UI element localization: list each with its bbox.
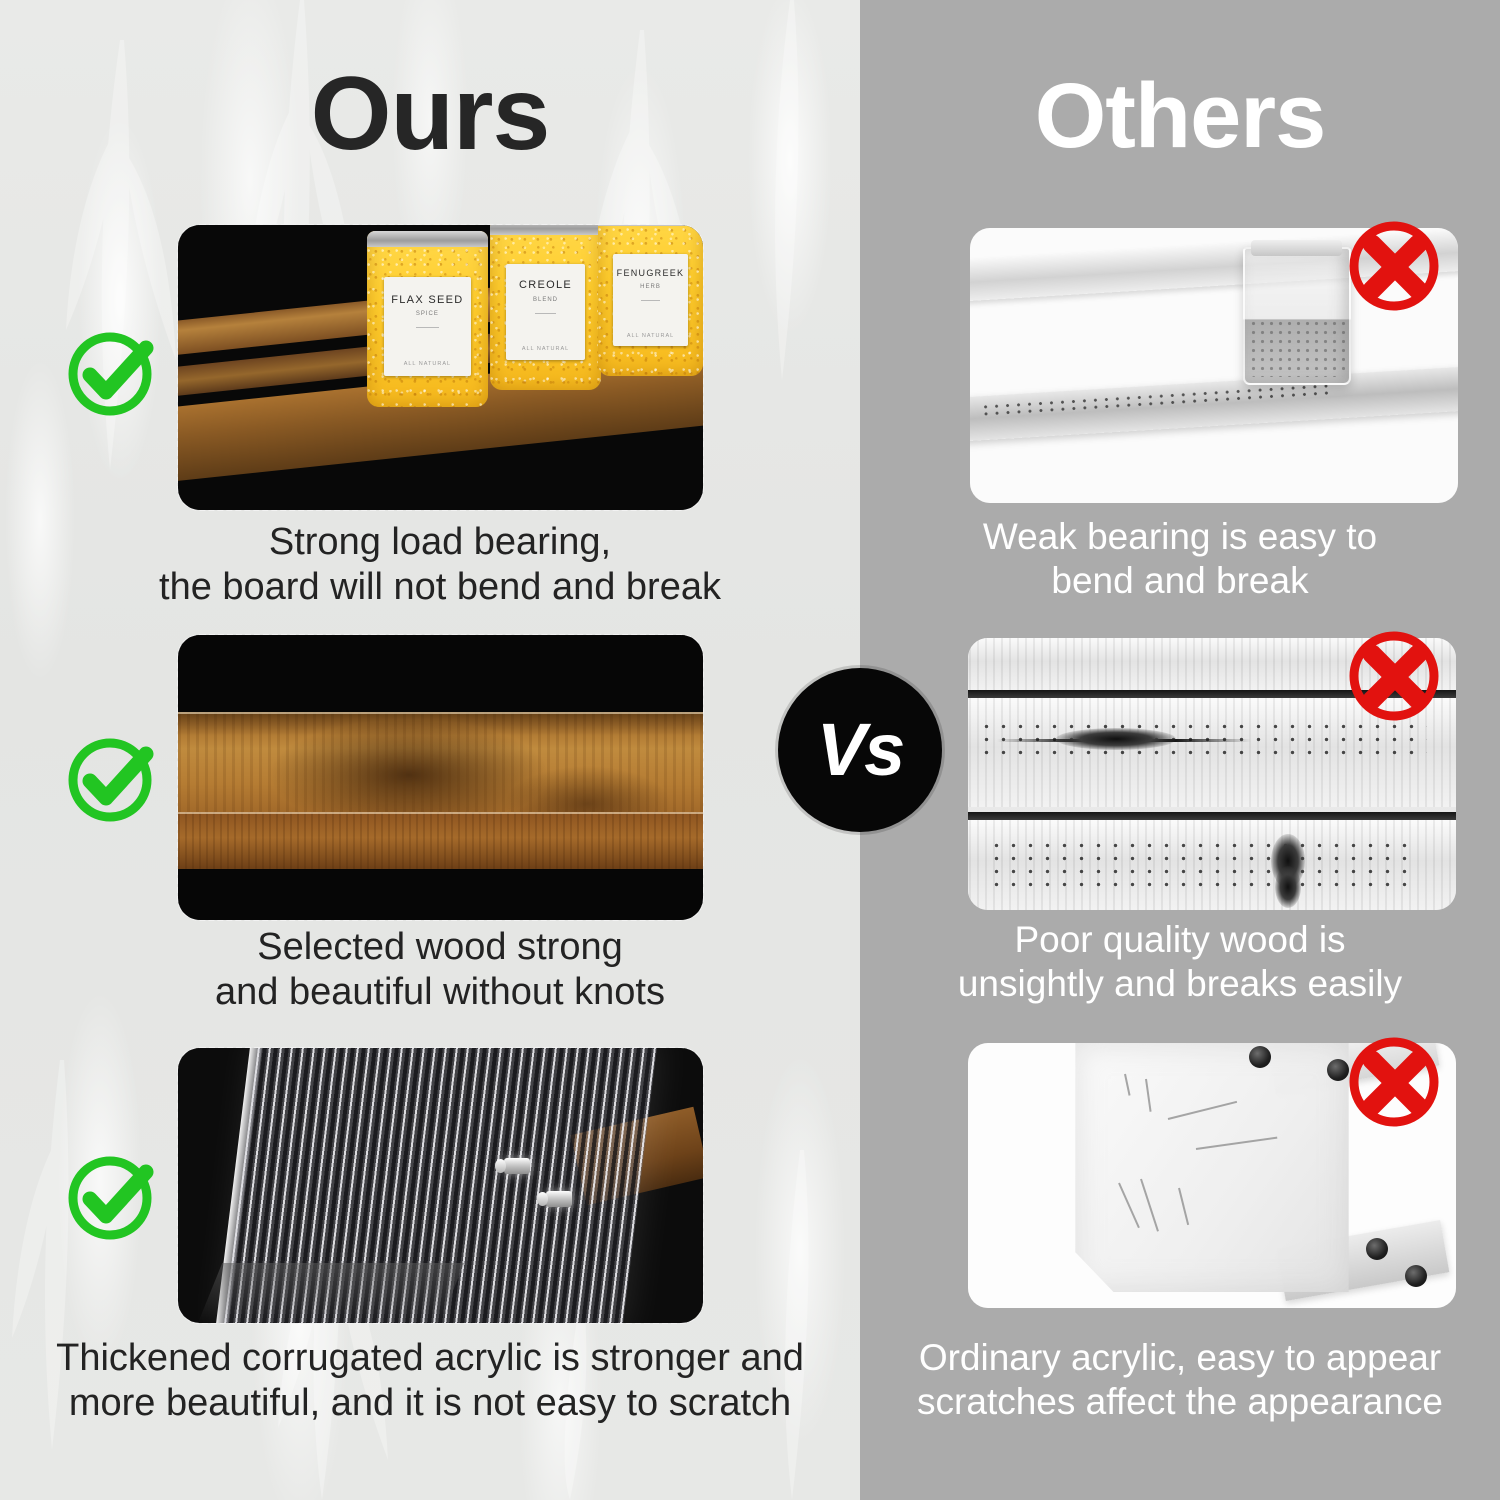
wood-grain-band-lower [178, 812, 703, 869]
x-circle-icon-row2 [1338, 622, 1450, 724]
jar-label-name: CREOLE [519, 279, 572, 292]
screw-icon [504, 1158, 530, 1174]
wood-seam-top [178, 712, 703, 714]
jar-label-footer: ALL NATURAL [627, 333, 674, 339]
glass-jar [1243, 247, 1350, 385]
wood-defect-dots [988, 839, 1417, 888]
jar-label: CREOLE BLEND ALL NATURAL [506, 264, 585, 360]
plank-gap [968, 812, 1456, 820]
scratch-mark [1118, 1183, 1140, 1229]
jar-label-footer: ALL NATURAL [404, 361, 451, 367]
jar-label-footer: ALL NATURAL [522, 346, 569, 352]
scratch-mark [1178, 1188, 1189, 1226]
wood-seam-bottom [178, 812, 703, 814]
caption-row2-left: Selected wood strong and beautiful witho… [60, 925, 820, 1015]
wood-knot [1056, 728, 1176, 750]
photo-jars-on-wood-shelf: FLAX SEED SPICE ALL NATURAL CREOLE BLEND… [178, 225, 703, 510]
jar-label-subtitle: BLEND [533, 297, 558, 303]
photo-corrugated-acrylic-panel [178, 1048, 703, 1323]
check-circle-icon-row2 [62, 728, 162, 828]
scratch-mark [1195, 1136, 1276, 1149]
spice-jar: CREOLE BLEND ALL NATURAL [490, 225, 600, 390]
jar-label-name: FLAX SEED [391, 294, 463, 307]
jar-contents [1249, 319, 1344, 378]
jar-label-divider [641, 300, 661, 301]
jar-label: FENUGREEK HERB ALL NATURAL [613, 254, 689, 347]
scratch-mark [1140, 1178, 1159, 1231]
jar-label: FLAX SEED SPICE ALL NATURAL [384, 277, 471, 376]
comparison-infographic: Ours FLAX SEED SPICE ALL NATURAL [0, 0, 1500, 1500]
vs-label: Vs [817, 713, 904, 787]
others-panel: Others Weak bearing is easy to bend and … [860, 0, 1500, 1500]
caption-row3-right: Ordinary acrylic, easy to appear scratch… [860, 1336, 1500, 1423]
ours-panel: Ours FLAX SEED SPICE ALL NATURAL [0, 0, 860, 1500]
jar-label-name: FENUGREEK [617, 268, 685, 278]
caption-row1-right: Weak bearing is easy to bend and break [880, 515, 1480, 602]
caption-row1-left: Strong load bearing, the board will not … [60, 520, 820, 610]
screw-icon [546, 1191, 572, 1207]
x-circle-icon-row1 [1338, 212, 1450, 314]
jar-label-subtitle: SPICE [416, 311, 439, 317]
jar-label-subtitle: HERB [640, 284, 661, 290]
caption-row3-left: Thickened corrugated acrylic is stronger… [20, 1336, 840, 1426]
x-circle-icon-row3 [1338, 1028, 1450, 1130]
screw-icon [1366, 1238, 1388, 1260]
spice-jar: FENUGREEK HERB ALL NATURAL [598, 225, 703, 376]
screw-icon [1249, 1046, 1271, 1068]
check-circle-icon-row1 [62, 322, 162, 422]
photo-selected-wood-grain [178, 635, 703, 920]
scratch-mark [1145, 1079, 1152, 1112]
caption-row2-right: Poor quality wood is unsightly and break… [880, 918, 1480, 1005]
spice-jar: FLAX SEED SPICE ALL NATURAL [367, 231, 488, 408]
jar-label-divider [535, 313, 556, 314]
check-circle-icon-row3 [62, 1146, 162, 1246]
scratch-mark [1124, 1074, 1131, 1096]
vs-badge: Vs [778, 668, 942, 832]
page-title-ours: Ours [0, 62, 860, 166]
scratch-mark [1168, 1101, 1237, 1120]
acrylic-panel-surface [1075, 1043, 1348, 1292]
jar-label-divider [416, 327, 439, 328]
panel-shadow [197, 1263, 463, 1324]
page-title-others: Others [860, 70, 1500, 162]
screw-icon [1405, 1265, 1427, 1287]
